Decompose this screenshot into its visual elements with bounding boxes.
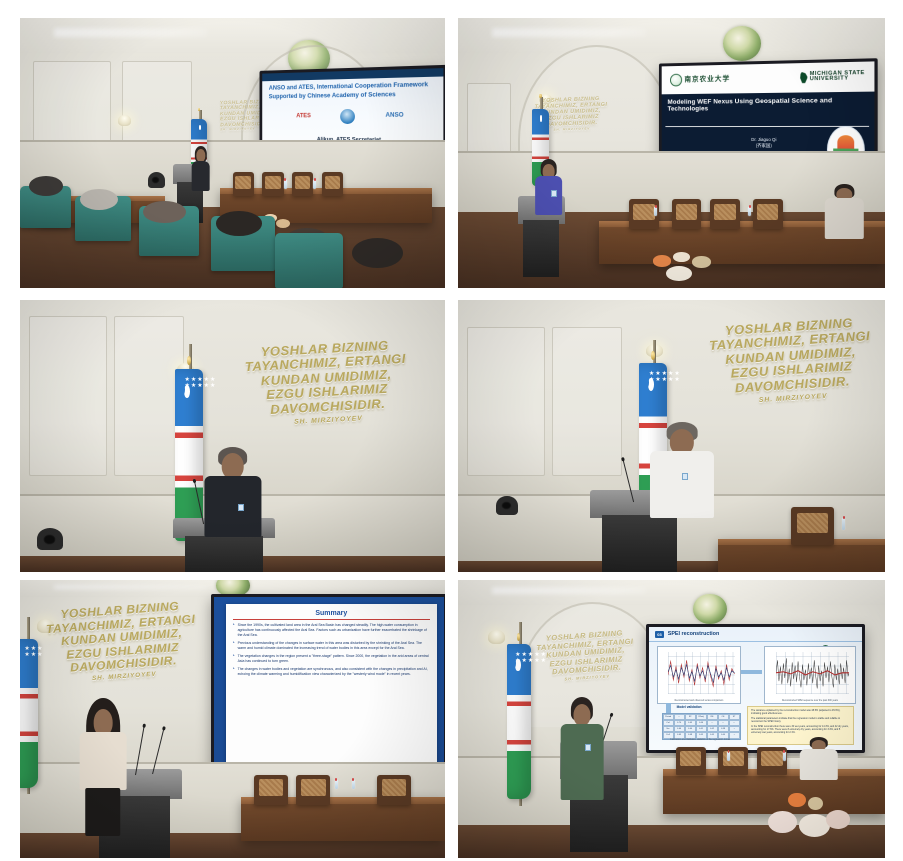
summary-bullet-list: Since the 1990s, the cultivated land are… (233, 623, 430, 678)
speaker-torso (80, 732, 127, 791)
name-badge (585, 744, 591, 751)
speaker (560, 700, 603, 800)
slide-summary: Summary Since the 1990s, the cultivated … (214, 597, 444, 775)
chart-series (776, 652, 850, 694)
speaker-torso (650, 451, 714, 518)
conference-room: YOSHLAR BIZNING TAYANCHIMIZ, ERTANGI KUN… (20, 18, 445, 288)
wall-slogan-attribution: SH. MIRZIYOYEV (234, 412, 421, 429)
slide-paper: Summary Since the 1990s, the cultivated … (226, 604, 437, 768)
water-bottle (335, 780, 338, 789)
speaker-torso (535, 176, 563, 215)
chair (753, 199, 783, 229)
speaker (80, 702, 127, 835)
audience-head (80, 189, 118, 210)
chair (672, 199, 702, 229)
name-badge (551, 190, 557, 197)
flag-finial (198, 108, 200, 111)
photo-panel-speaker-white-shirt: YOSHLAR BIZNING TAYANCHIMIZ, ERTANGI KUN… (458, 300, 885, 572)
flag-stars: ★★★★★★★★★★ (185, 377, 201, 411)
conference-room: YOSHLAR BIZNING TAYANCHIMIZ, ERTANGI KUN… (20, 580, 445, 858)
wall-slogan-attribution: SH. MIRZIYOYEV (699, 389, 885, 408)
flower (808, 797, 824, 810)
audience-head (352, 238, 403, 268)
water-bottle (352, 780, 355, 789)
slide-title: Modeling WEF Nexus Using Geospatial Scie… (668, 97, 867, 113)
wall-slogan-text: YOSHLAR BIZNING TAYANCHIMIZ, ERTANGI KUN… (536, 629, 634, 677)
delegate-torso (800, 749, 838, 780)
flower (788, 793, 806, 808)
wall-sconce (488, 630, 505, 644)
ates-logo-icon: ATES (296, 114, 311, 120)
podium-body (523, 220, 559, 277)
university-name-cn: 南京农业大学 (685, 74, 731, 85)
chart-300-year-reconstruction: Reconstructed SPEI sequence over the pas… (764, 646, 856, 704)
slide-header: 03 SPEI reconstruction (649, 627, 863, 642)
chair (296, 775, 330, 806)
wall-panel (29, 316, 108, 476)
flag-stars: ★★★★★★★★★★ (515, 652, 529, 683)
chair (254, 775, 288, 806)
msu-name: MICHIGAN STATE UNIVERSITY (810, 71, 865, 84)
photo-panel-opening-session: YOSHLAR BIZNING TAYANCHIMIZ, ERTANGI KUN… (20, 18, 445, 288)
wall-panel (552, 327, 622, 476)
table-cell: Full (663, 732, 674, 738)
wall-slogan-text: YOSHLAR BIZNING TAYANCHIMIZ, ERTANGI KUN… (709, 315, 871, 395)
speaker-head (573, 704, 590, 726)
flag-cloth: ★★★★★★★★★★ (507, 644, 531, 799)
msu-line-2: UNIVERSITY (810, 76, 849, 83)
water-bottle (748, 207, 751, 216)
section-number: 03 (655, 631, 663, 638)
presenter-name-cn: (齐家国) (756, 143, 772, 148)
slide-logos: ATES ANSO (282, 106, 419, 126)
flower-arrangement (757, 791, 868, 858)
chair (718, 747, 748, 775)
slide-title: Summary (233, 610, 430, 620)
flag-cloth: ★★★★★★★★★★ (175, 369, 203, 541)
seated-delegate (800, 738, 838, 780)
photo-panel-speaker-suit: YOSHLAR BIZNING TAYANCHIMIZ, ERTANGI KUN… (20, 300, 445, 572)
model-validation-label: Model validation (677, 705, 702, 709)
university-seal-icon (670, 74, 682, 87)
crescent-icon (535, 113, 538, 120)
water-bottle (783, 752, 786, 761)
photo-collage: YOSHLAR BIZNING TAYANCHIMIZ, ERTANGI KUN… (0, 0, 903, 861)
audience-head (216, 211, 263, 236)
chart-caption: Reconstructed and observed series compar… (660, 700, 738, 703)
audience-head (29, 176, 63, 196)
chair (676, 747, 706, 775)
photo-panel-wef-nexus: YOSHLAR BIZNING TAYANCHIMIZ, ERTANGI KUN… (458, 18, 885, 288)
chart-series (668, 652, 735, 694)
wall-panel (467, 327, 546, 476)
slide-title: SPEI reconstruction (668, 631, 720, 637)
speaker-torso (560, 724, 603, 800)
wall-slogan-text: YOSHLAR BIZNING TAYANCHIMIZ, ERTANGI KUN… (244, 337, 406, 416)
speaker-legs (85, 788, 121, 836)
summary-bullet: The changes in water bodies and vegetati… (233, 667, 430, 677)
flag-stars: ★★★★★★ (24, 646, 36, 676)
flow-arrow-right (741, 670, 762, 674)
finding-item: The statistical parameters indicate that… (751, 717, 850, 723)
name-badge (238, 504, 244, 511)
speaker-torso (204, 476, 261, 537)
wall-slogan: YOSHLAR BIZNING TAYANCHIMIZ, ERTANGI KUN… (230, 322, 423, 443)
ceiling (458, 18, 885, 53)
conference-room: YOSHLAR BIZNING TAYANCHIMIZ, ERTANGI KUN… (458, 18, 885, 288)
finding-item: The variance explained by the reconstruc… (751, 709, 850, 715)
flower-arrangement (646, 250, 731, 288)
chart-caption: Reconstructed SPEI sequence over the pas… (767, 700, 853, 703)
wall-sconce (118, 115, 131, 126)
cas-logo-icon (340, 109, 355, 124)
slide-title: ANSO and ATES, International Cooperation… (269, 80, 435, 101)
conference-room: YOSHLAR BIZNING TAYANCHIMIZ, ERTANGI KUN… (20, 300, 445, 572)
flower (768, 811, 797, 832)
slide-spei-reconstruction: 03 SPEI reconstruction 南京农业大学 (649, 627, 863, 749)
conference-room: YOSHLAR BIZNING TAYANCHIMIZ, ERTANGI KUN… (458, 580, 885, 858)
slide-header: 南京农业大学 MICHIGAN STATE UNIVERSITY (662, 62, 874, 94)
wall-slogan-attribution: SH. MIRZIYOYEV (528, 672, 648, 685)
projection-screen: Summary Since the 1990s, the cultivated … (211, 594, 445, 778)
wall-slogan: YOSHLAR BIZNING TAYANCHIMIZ, ERTANGI KUN… (694, 300, 885, 423)
conference-room: YOSHLAR BIZNING TAYANCHIMIZ, ERTANGI KUN… (458, 300, 885, 572)
delegate-torso (825, 198, 863, 239)
anso-logo-icon: ANSO (385, 113, 403, 119)
name-badge (682, 473, 688, 480)
flag-finial (187, 356, 191, 365)
water-bottle (727, 752, 730, 761)
state-emblem-icon (693, 594, 727, 625)
table-cell: 0.45 (707, 732, 718, 738)
audience-seat (275, 233, 343, 288)
chair (710, 199, 740, 229)
state-emblem-icon (723, 26, 761, 61)
seated-delegate (825, 185, 863, 239)
chart-line-svg (776, 652, 850, 694)
nanjing-agricultural-university-logo: 南京农业大学 (670, 73, 731, 87)
audience (20, 164, 445, 288)
flag-cloth: ★★★★★★ (20, 639, 38, 788)
photo-panel-summary-slide: YOSHLAR BIZNING TAYANCHIMIZ, ERTANGI KUN… (20, 580, 445, 858)
wall-slogan: YOSHLAR BIZNING TAYANCHIMIZ, ERTANGI KUN… (34, 585, 211, 700)
table-cell: + (729, 732, 740, 738)
flower (666, 266, 692, 281)
flower (653, 255, 672, 266)
summary-bullet: Previous understanding of the changes in… (233, 641, 430, 651)
ceiling (20, 18, 445, 53)
speaker (203, 450, 263, 537)
spartan-helmet-icon (799, 72, 808, 83)
summary-bullet: The vegetation changes in the region pre… (233, 654, 430, 664)
crescent-icon (194, 123, 197, 129)
projection-screen: 03 SPEI reconstruction 南京农业大学 (646, 624, 866, 752)
speaker (650, 425, 714, 517)
table-cell: 0.48 (685, 732, 696, 738)
chart-observed-vs-reconstructed: Reconstructed and observed series compar… (657, 646, 740, 704)
chair (377, 775, 411, 806)
water-bottle (654, 207, 657, 216)
table-cell: 0.69 (674, 732, 685, 738)
model-validation-table: Period r R2 R2adj RE CE ST Cal. 0.70 0.4… (662, 713, 741, 739)
table-cell: 0.40 (718, 732, 729, 738)
ceiling (458, 580, 885, 605)
podium-body (602, 515, 677, 572)
table-caption: Calibration and Validation statistics of… (662, 739, 739, 741)
photo-panel-spei-slide: YOSHLAR BIZNING TAYANCHIMIZ, ERTANGI KUN… (458, 580, 885, 858)
flower (692, 256, 711, 267)
uzbekistan-flag: ★★★★★★ (20, 636, 41, 792)
michigan-state-university-logo: MICHIGAN STATE UNIVERSITY (799, 71, 865, 84)
summary-bullet: Since the 1990s, the cultivated land are… (233, 623, 430, 638)
uzbekistan-flag: ★★★★★★★★★★ (505, 641, 535, 802)
chart-line-svg (668, 652, 735, 694)
flower (673, 252, 690, 262)
flower (826, 810, 850, 829)
water-bottle (842, 518, 845, 530)
podium-body (185, 536, 263, 572)
camera-icon (37, 528, 63, 550)
flag-finial (651, 351, 655, 359)
table-cell: 0.45 (696, 732, 707, 738)
presenter-name: Dr. Jiaguo Qi (752, 137, 777, 142)
flag-stars: ★★★★★★★★★★ (649, 371, 665, 403)
wall-slogan-text: YOSHLAR BIZNING TAYANCHIMIZ, ERTANGI KUN… (46, 599, 196, 674)
speaker (535, 161, 563, 215)
flag-finial (539, 94, 542, 98)
chair (791, 507, 834, 545)
finding-item: In the SPEI reconstruction there were 34… (751, 725, 850, 735)
slide-top-bar (262, 68, 443, 81)
camera-icon (496, 496, 517, 515)
